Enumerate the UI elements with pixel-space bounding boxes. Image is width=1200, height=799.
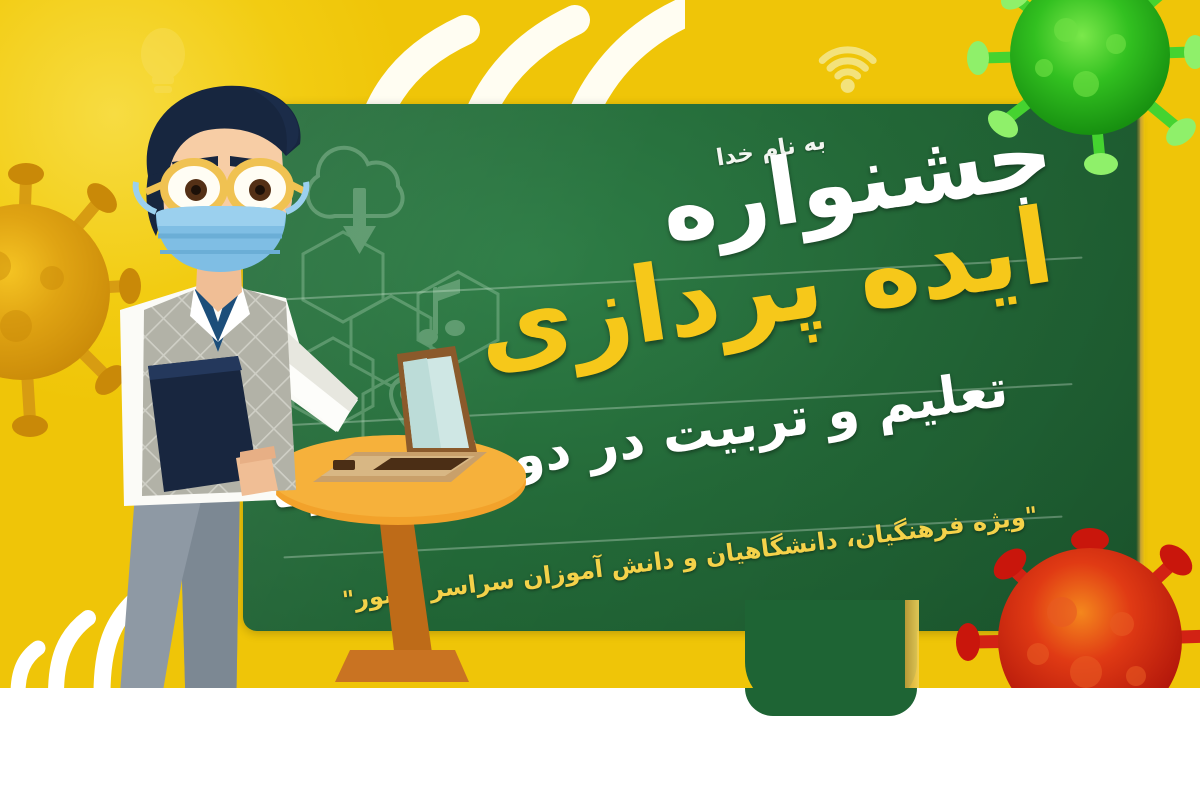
chalkboard-tab-overhang <box>745 688 917 716</box>
masked-teacher-illustration <box>90 60 380 720</box>
bottom-white-band <box>0 688 1200 799</box>
trousers <box>118 480 240 720</box>
poster-canvas: به نام خدا جشنواره ایده پردازی تعلیم و ت… <box>0 0 1200 799</box>
head <box>136 86 307 272</box>
chalkboard-right-edge <box>1136 104 1145 631</box>
